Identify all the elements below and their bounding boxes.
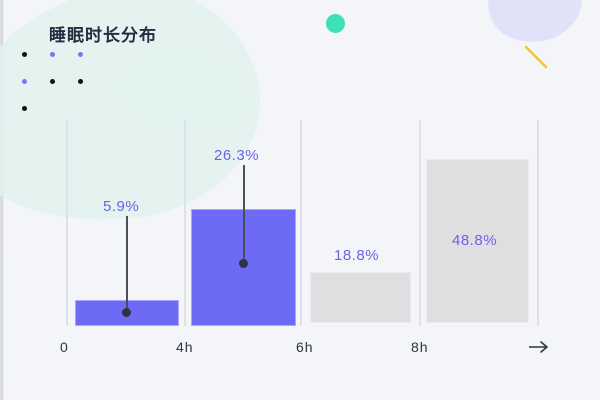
bar-value-label: 5.9% (103, 198, 139, 215)
chart-gridline (66, 120, 68, 326)
bar-marker-dot[interactable] (122, 308, 131, 317)
chart-screen: 睡眠时长分布 5.9%26.3%18.8%48.8%04h6h8h (0, 0, 600, 400)
x-axis-tick-label: 0 (60, 339, 69, 355)
x-axis-tick-label: 6h (296, 339, 314, 355)
chart-gridline (419, 120, 421, 326)
bar-marker-stem (126, 216, 128, 313)
x-axis-arrow-icon (528, 339, 550, 355)
bar-value-label: 26.3% (214, 147, 259, 164)
bar-marker-stem (243, 165, 245, 263)
chart-bar[interactable] (310, 272, 411, 323)
bar-marker-dot[interactable] (239, 259, 248, 268)
chart-gridline (300, 120, 302, 326)
bar-value-label: 48.8% (452, 232, 497, 249)
x-axis-tick-label: 8h (411, 339, 429, 355)
bar-chart-plot: 5.9%26.3%18.8%48.8%04h6h8h (0, 0, 600, 400)
x-axis-tick-label: 4h (176, 339, 194, 355)
chart-gridline (184, 120, 186, 326)
chart-gridline (537, 120, 539, 326)
bar-value-label: 18.8% (334, 247, 379, 264)
